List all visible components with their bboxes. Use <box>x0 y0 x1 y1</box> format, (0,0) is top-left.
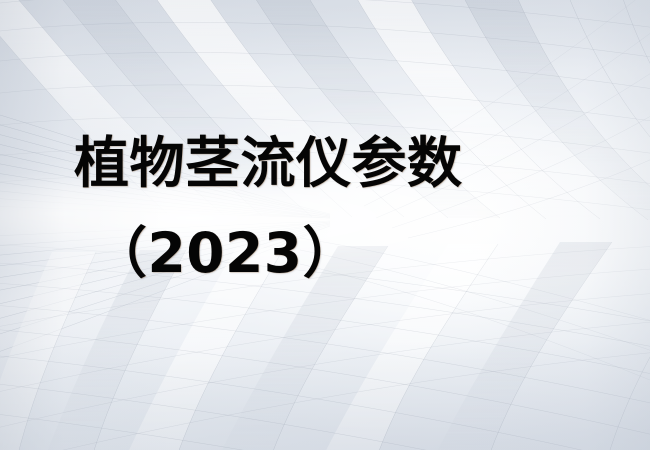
title-slide: 植物茎流仪参数 （2023） <box>0 0 650 450</box>
page-title: 植物茎流仪参数 <box>74 131 463 195</box>
slide-title-block: 植物茎流仪参数 （2023） <box>0 0 650 450</box>
page-subtitle-year: （2023） <box>92 221 358 285</box>
